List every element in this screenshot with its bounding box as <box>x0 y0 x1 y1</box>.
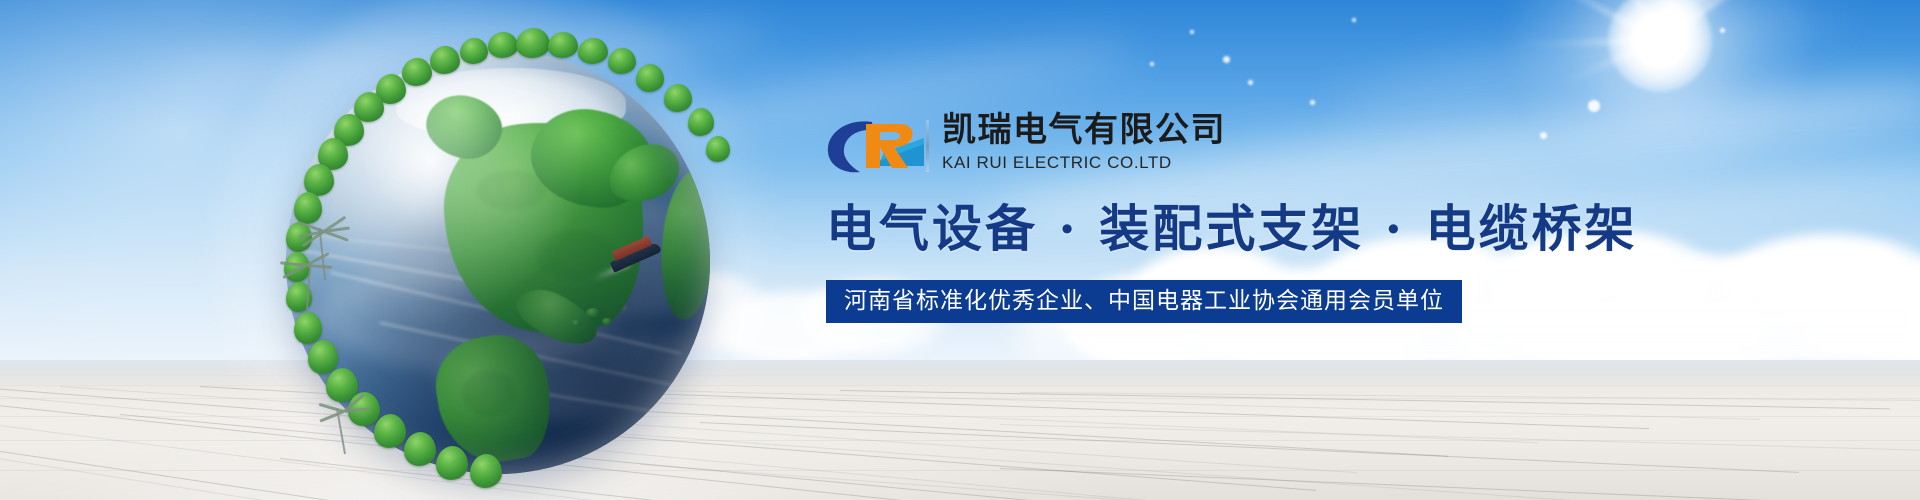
banner-content: 凯瑞电气有限公司 KAI RUI ELECTRIC CO.LTD 电气设备 · … <box>826 108 1526 323</box>
light-speck <box>1540 132 1547 139</box>
light-speck <box>1150 62 1154 66</box>
hero-banner: 凯瑞电气有限公司 KAI RUI ELECTRIC CO.LTD 电气设备 · … <box>0 0 1920 500</box>
light-speck <box>1190 30 1194 34</box>
brand-divider <box>926 120 929 172</box>
brand-names: 凯瑞电气有限公司 KAI RUI ELECTRIC CO.LTD <box>942 110 1226 174</box>
kairui-cr-logo-icon[interactable] <box>826 116 930 176</box>
light-speck <box>1310 100 1315 105</box>
light-speck <box>1352 18 1356 22</box>
tagline: 电气设备 · 装配式支架 · 电缆桥架 <box>826 198 1526 260</box>
green-earth-globe <box>268 22 728 492</box>
light-speck <box>1588 100 1600 112</box>
light-speck <box>1223 56 1230 63</box>
light-speck <box>1720 28 1725 33</box>
palm-tree <box>290 254 330 312</box>
palm-tree <box>328 400 368 458</box>
company-name-cn: 凯瑞电气有限公司 <box>942 110 1226 150</box>
brand-lockup[interactable]: 凯瑞电气有限公司 KAI RUI ELECTRIC CO.LTD <box>826 108 1526 180</box>
light-speck <box>1248 80 1253 85</box>
company-name-en: KAI RUI ELECTRIC CO.LTD <box>942 152 1226 174</box>
credentials-badge: 河南省标准化优秀企业、中国电器工业协会通用会员单位 <box>826 280 1462 323</box>
